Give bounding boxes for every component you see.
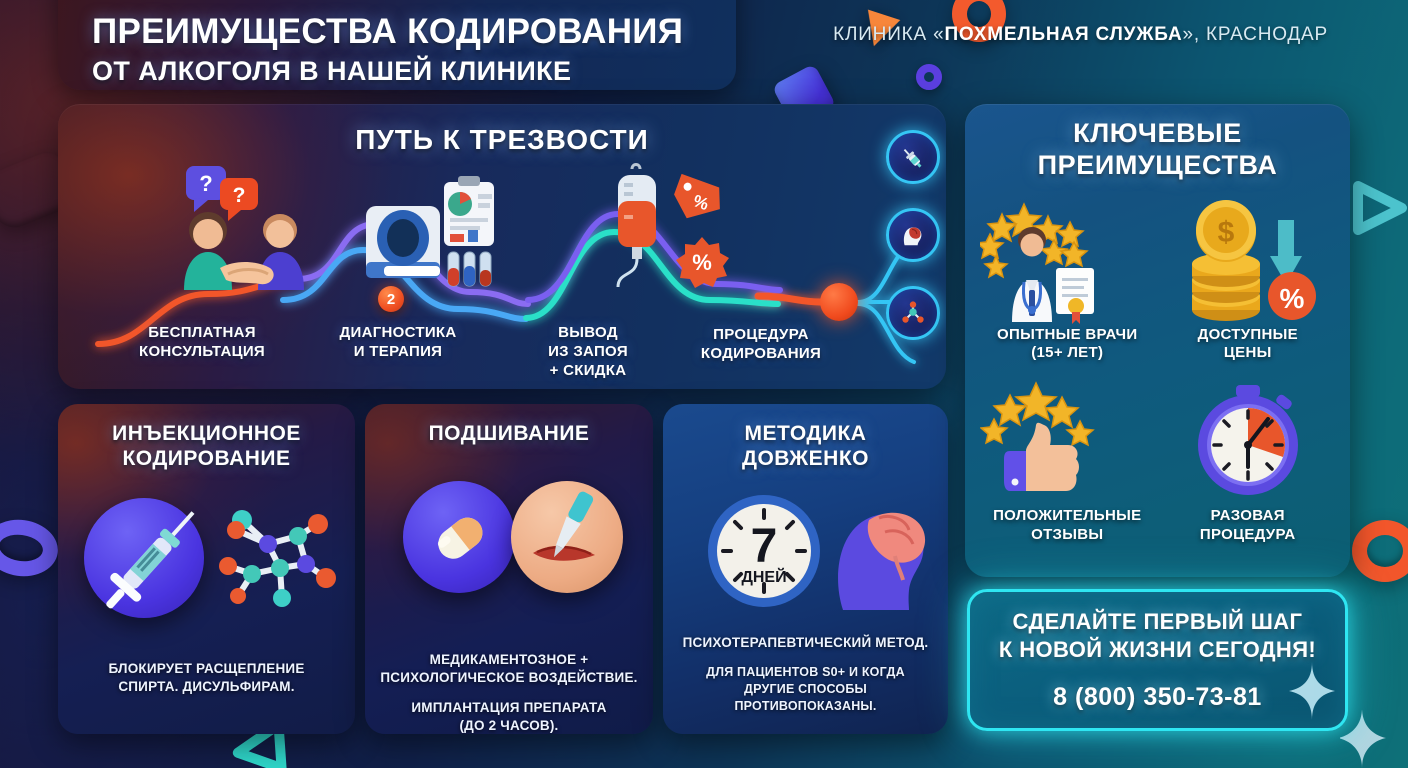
advantages-grid: ОПЫТНЫЕ ВРАЧИ (15+ ЛЕТ): [965, 198, 1350, 545]
stopwatch-icon: [1160, 379, 1335, 507]
iv-drip-discount-icon: % %: [598, 159, 748, 299]
method-card-dovzhenko: МЕТОДИКА ДОВЖЕНКО 7 ДНЕЙ ПСИХОТЕРАПЕВТИЧ…: [663, 404, 948, 734]
card-caption: БЛОКИРУЕТ РАСЩЕПЛЕНИЕ СПИРТА. ДИСУЛЬФИРА…: [72, 660, 341, 696]
step-label-2: ДИАГНОСТИКА И ТЕРАПИЯ: [308, 324, 488, 362]
teal-triangle-outline-right-decoration: [1350, 176, 1408, 240]
step-badge-2-top: 2: [378, 286, 404, 312]
syringe-icon: [88, 490, 218, 630]
clinic-prefix: КЛИНИКА «: [833, 24, 944, 45]
coins-discount-arrow-icon: $ %: [1160, 198, 1335, 326]
method-card-injection: ИНЪЕКЦИОННОЕ КОДИРОВАНИЕ: [58, 404, 355, 734]
purple-ring-decoration: [0, 515, 62, 581]
step-label-1: БЕСПЛАТНАЯ КОНСУЛЬТАЦИЯ: [102, 324, 302, 362]
advantage-label: ОПЫТНЫЕ ВРАЧИ (15+ ЛЕТ): [977, 326, 1158, 364]
key-advantages-panel: КЛЮЧЕВЫЕ ПРЕИМУЩЕСТВА: [965, 104, 1350, 577]
purple-small-ring-decoration: [916, 64, 942, 90]
mri-scanner-icon: [358, 166, 518, 296]
clinic-name: КЛИНИКА «ПОХМЕЛЬНАЯ СЛУЖБА», КРАСНОДАР: [833, 22, 1328, 49]
advantage-item-single-procedure: РАЗОВАЯ ПРОЦЕДУРА: [1158, 379, 1339, 545]
advantage-artwork: [977, 379, 1158, 507]
advantages-title: КЛЮЧЕВЫЕ ПРЕИМУЩЕСТВА: [965, 118, 1350, 182]
page-title-line1: ПРЕИМУЩЕСТВА КОДИРОВАНИЯ: [92, 12, 736, 52]
sparkle-decoration: [1340, 710, 1404, 768]
svg-text:%: %: [1280, 283, 1305, 314]
brain-head-icon: [886, 208, 940, 262]
cta-panel[interactable]: СДЕЛАЙТЕ ПЕРВЫЙ ШАГ К НОВОЙ ЖИЗНИ СЕГОДН…: [967, 589, 1348, 731]
clinic-suffix: », КРАСНОДАР: [1183, 24, 1328, 45]
card-caption-1: МЕДИКАМЕНТОЗНОЕ + ПСИХОЛОГИЧЕСКОЕ ВОЗДЕЙ…: [379, 651, 639, 687]
advantage-item-prices: $ % ДОСТУПНЫЕ ЦЕНЫ: [1158, 198, 1339, 364]
handshake-people-icon: ? ?: [168, 164, 328, 294]
advantage-artwork: $ %: [1158, 198, 1339, 326]
header-title-panel: ПРЕИМУЩЕСТВА КОДИРОВАНИЯ ОТ АЛКОГОЛЯ В Н…: [58, 0, 736, 90]
clock-unit: ДНЕЙ: [741, 567, 786, 586]
brain-head-icon: [827, 494, 939, 612]
card-title: ПОДШИВАНИЕ: [379, 422, 639, 447]
syringe-icon: [886, 130, 940, 184]
clock-number: 7: [751, 520, 778, 573]
orange-ring-right-decoration: [1352, 520, 1408, 582]
card-artwork: [72, 484, 341, 634]
page-title-line2: ОТ АЛКОГОЛЯ В НАШЕЙ КЛИНИКЕ: [92, 56, 736, 87]
advantage-label: ДОСТУПНЫЕ ЦЕНЫ: [1158, 326, 1339, 364]
advantage-item-reviews: ПОЛОЖИТЕЛЬНЫЕ ОТЗЫВЫ: [977, 379, 1158, 545]
step-label-3: ВЫВОД ИЗ ЗАПОЯ + СКИДКА: [508, 324, 668, 380]
card-artwork: [379, 475, 639, 625]
molecule-icon: [886, 286, 940, 340]
cta-title: СДЕЛАЙТЕ ПЕРВЫЙ ШАГ К НОВОЙ ЖИЗНИ СЕГОДН…: [999, 608, 1316, 663]
capsule-pill-icon: [411, 489, 511, 589]
svg-text:?: ?: [199, 171, 212, 196]
method-card-implant: ПОДШИВАНИЕ МЕДИКАМЕНТОЗНОЕ + ПСИХОЛОГИЧЕ…: [365, 404, 653, 734]
card-title: МЕТОДИКА ДОВЖЕНКО: [677, 422, 934, 472]
molecule-icon: [206, 506, 346, 626]
card-artwork: 7 ДНЕЙ: [677, 490, 934, 618]
clock-7-days-icon: 7 ДНЕЙ: [705, 490, 823, 612]
advantage-label: ПОЛОЖИТЕЛЬНЫЕ ОТЗЫВЫ: [977, 507, 1158, 545]
card-caption-2: ИМПЛАНТАЦИЯ ПРЕПАРАТА (ДО 2 ЧАСОВ).: [379, 699, 639, 734]
step-label-4: ПРОЦЕДУРА КОДИРОВАНИЯ: [666, 326, 856, 364]
scalpel-incision-icon: [511, 481, 623, 593]
coding-hub-node: [820, 283, 858, 321]
svg-text:?: ?: [233, 184, 246, 207]
doctor-stars-certificate-icon: [980, 198, 1155, 326]
advantage-artwork: [977, 198, 1158, 326]
svg-text:$: $: [1218, 216, 1235, 249]
advantage-label: РАЗОВАЯ ПРОЦЕДУРА: [1158, 507, 1339, 545]
cta-phone-number[interactable]: 8 (800) 350-73-81: [1053, 683, 1262, 712]
card-caption-2: ДЛЯ ПАЦИЕНТОВ S0+ И КОГДА ДРУГИЕ СПОСОБЫ…: [677, 664, 934, 715]
thumbs-up-stars-icon: [980, 379, 1155, 507]
advantage-item-doctors: ОПЫТНЫЕ ВРАЧИ (15+ ЛЕТ): [977, 198, 1158, 364]
card-title: ИНЪЕКЦИОННОЕ КОДИРОВАНИЕ: [72, 422, 341, 472]
card-caption-1: ПСИХОТЕРАПЕВТИЧЕСКИЙ МЕТОД.: [677, 634, 934, 652]
journey-panel: ПУТЬ К ТРЕЗВОСТИ ? ?: [58, 104, 946, 389]
advantage-artwork: [1158, 379, 1339, 507]
clinic-brand: ПОХМЕЛЬНАЯ СЛУЖБА: [944, 24, 1182, 45]
svg-text:%: %: [692, 250, 712, 275]
sparkle-icon: [1289, 662, 1335, 720]
